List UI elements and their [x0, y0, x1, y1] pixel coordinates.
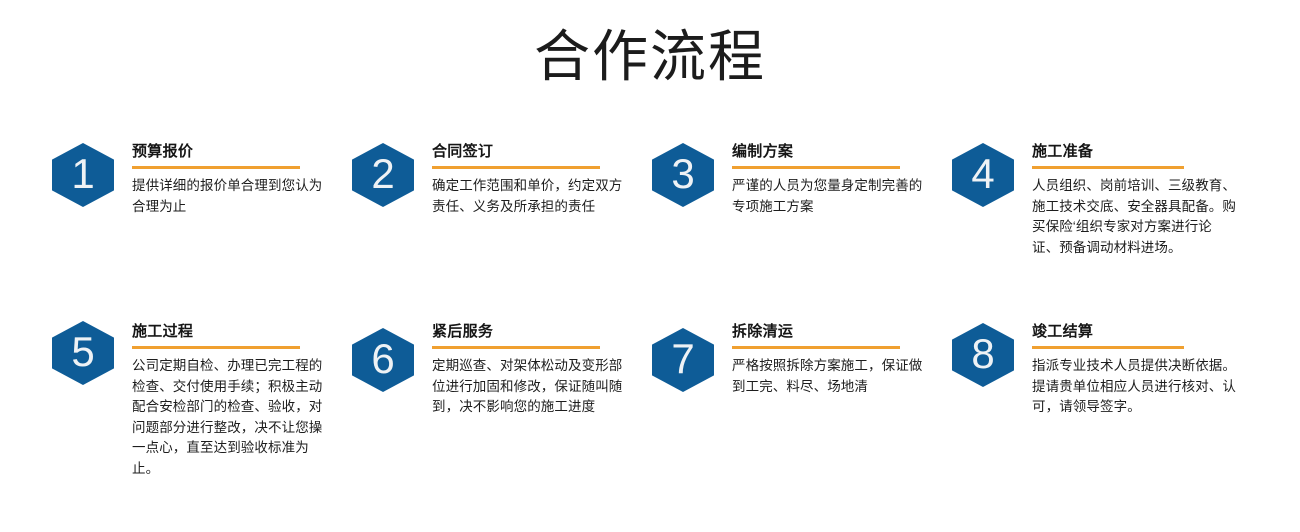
- step-number-7: 7: [671, 338, 694, 380]
- step-text-4: 施工准备 人员组织、岗前培训、三级教育、施工技术交底、安全器具配备。购买保险‘组…: [1032, 142, 1238, 258]
- step-heading-3: 编制方案: [732, 142, 928, 162]
- step-heading-1: 预算报价: [132, 142, 328, 162]
- hexagon-badge-3: 3: [652, 143, 714, 207]
- step-text-6: 紧后服务 定期巡查、对架体松动及变形部位进行加固和修改，保证随叫随到，决不影响您…: [432, 322, 628, 418]
- step-text-3: 编制方案 严谨的人员为您量身定制完善的专项施工方案: [732, 142, 928, 217]
- heading-rule-2: [432, 166, 600, 169]
- step-heading-7: 拆除清运: [732, 322, 928, 342]
- step-number-1: 1: [71, 153, 94, 195]
- step-description-5: 公司定期自检、办理已完工程的检查、交付使用手续；积极主动配合安检部门的检查、验收…: [132, 356, 328, 479]
- process-step-7[interactable]: 7 拆除清运 严格按照拆除方案施工，保证做到工完、料尽、场地清: [640, 310, 940, 490]
- step-number-4: 4: [971, 153, 994, 195]
- process-step-8[interactable]: 8 竣工结算 指派专业技术人员提供决断依据。提请贵单位相应人员进行核对、认可，请…: [940, 310, 1270, 490]
- hexagon-badge-7: 7: [652, 328, 714, 392]
- step-text-8: 竣工结算 指派专业技术人员提供决断依据。提请贵单位相应人员进行核对、认可，请领导…: [1032, 322, 1238, 418]
- hexagon-badge-1: 1: [52, 143, 114, 207]
- hexagon-badge-2: 2: [352, 143, 414, 207]
- step-description-3: 严谨的人员为您量身定制完善的专项施工方案: [732, 176, 928, 217]
- step-text-2: 合同签订 确定工作范围和单价，约定双方责任、义务及所承担的责任: [432, 142, 628, 217]
- step-text-7: 拆除清运 严格按照拆除方案施工，保证做到工完、料尽、场地清: [732, 322, 928, 397]
- step-heading-5: 施工过程: [132, 322, 328, 342]
- page-title: 合作流程: [0, 24, 1300, 90]
- heading-rule-3: [732, 166, 900, 169]
- heading-rule-7: [732, 346, 900, 349]
- step-heading-8: 竣工结算: [1032, 322, 1238, 342]
- step-text-5: 施工过程 公司定期自检、办理已完工程的检查、交付使用手续；积极主动配合安检部门的…: [132, 322, 328, 479]
- infographic-page: 合作流程 1 预算报价 提供详细的报价单合理到您认为合理为止 2 合同签订: [0, 0, 1300, 532]
- step-text-1: 预算报价 提供详细的报价单合理到您认为合理为止: [132, 142, 328, 217]
- step-number-2: 2: [371, 153, 394, 195]
- step-description-2: 确定工作范围和单价，约定双方责任、义务及所承担的责任: [432, 176, 628, 217]
- step-number-5: 5: [71, 331, 94, 373]
- process-steps-grid: 1 预算报价 提供详细的报价单合理到您认为合理为止 2 合同签订 确定工作范围和…: [0, 130, 1300, 490]
- heading-rule-6: [432, 346, 600, 349]
- process-step-4[interactable]: 4 施工准备 人员组织、岗前培训、三级教育、施工技术交底、安全器具配备。购买保险…: [940, 130, 1270, 310]
- hexagon-badge-4: 4: [952, 143, 1014, 207]
- process-step-1[interactable]: 1 预算报价 提供详细的报价单合理到您认为合理为止: [40, 130, 340, 310]
- heading-rule-1: [132, 166, 300, 169]
- step-heading-2: 合同签订: [432, 142, 628, 162]
- step-description-8: 指派专业技术人员提供决断依据。提请贵单位相应人员进行核对、认可，请领导签字。: [1032, 356, 1238, 418]
- step-description-6: 定期巡查、对架体松动及变形部位进行加固和修改，保证随叫随到，决不影响您的施工进度: [432, 356, 628, 418]
- heading-rule-8: [1032, 346, 1184, 349]
- step-number-3: 3: [671, 153, 694, 195]
- step-number-6: 6: [371, 338, 394, 380]
- process-step-2[interactable]: 2 合同签订 确定工作范围和单价，约定双方责任、义务及所承担的责任: [340, 130, 640, 310]
- hexagon-badge-6: 6: [352, 328, 414, 392]
- steps-row-2: 5 施工过程 公司定期自检、办理已完工程的检查、交付使用手续；积极主动配合安检部…: [0, 310, 1300, 490]
- step-heading-6: 紧后服务: [432, 322, 628, 342]
- process-step-6[interactable]: 6 紧后服务 定期巡查、对架体松动及变形部位进行加固和修改，保证随叫随到，决不影…: [340, 310, 640, 490]
- step-number-8: 8: [971, 333, 994, 375]
- hexagon-badge-5: 5: [52, 321, 114, 385]
- heading-rule-5: [132, 346, 300, 349]
- step-description-4: 人员组织、岗前培训、三级教育、施工技术交底、安全器具配备。购买保险‘组织专家对方…: [1032, 176, 1238, 258]
- heading-rule-4: [1032, 166, 1184, 169]
- steps-row-1: 1 预算报价 提供详细的报价单合理到您认为合理为止 2 合同签订 确定工作范围和…: [0, 130, 1300, 310]
- step-description-1: 提供详细的报价单合理到您认为合理为止: [132, 176, 328, 217]
- process-step-3[interactable]: 3 编制方案 严谨的人员为您量身定制完善的专项施工方案: [640, 130, 940, 310]
- hexagon-badge-8: 8: [952, 323, 1014, 387]
- step-description-7: 严格按照拆除方案施工，保证做到工完、料尽、场地清: [732, 356, 928, 397]
- process-step-5[interactable]: 5 施工过程 公司定期自检、办理已完工程的检查、交付使用手续；积极主动配合安检部…: [40, 310, 340, 490]
- step-heading-4: 施工准备: [1032, 142, 1238, 162]
